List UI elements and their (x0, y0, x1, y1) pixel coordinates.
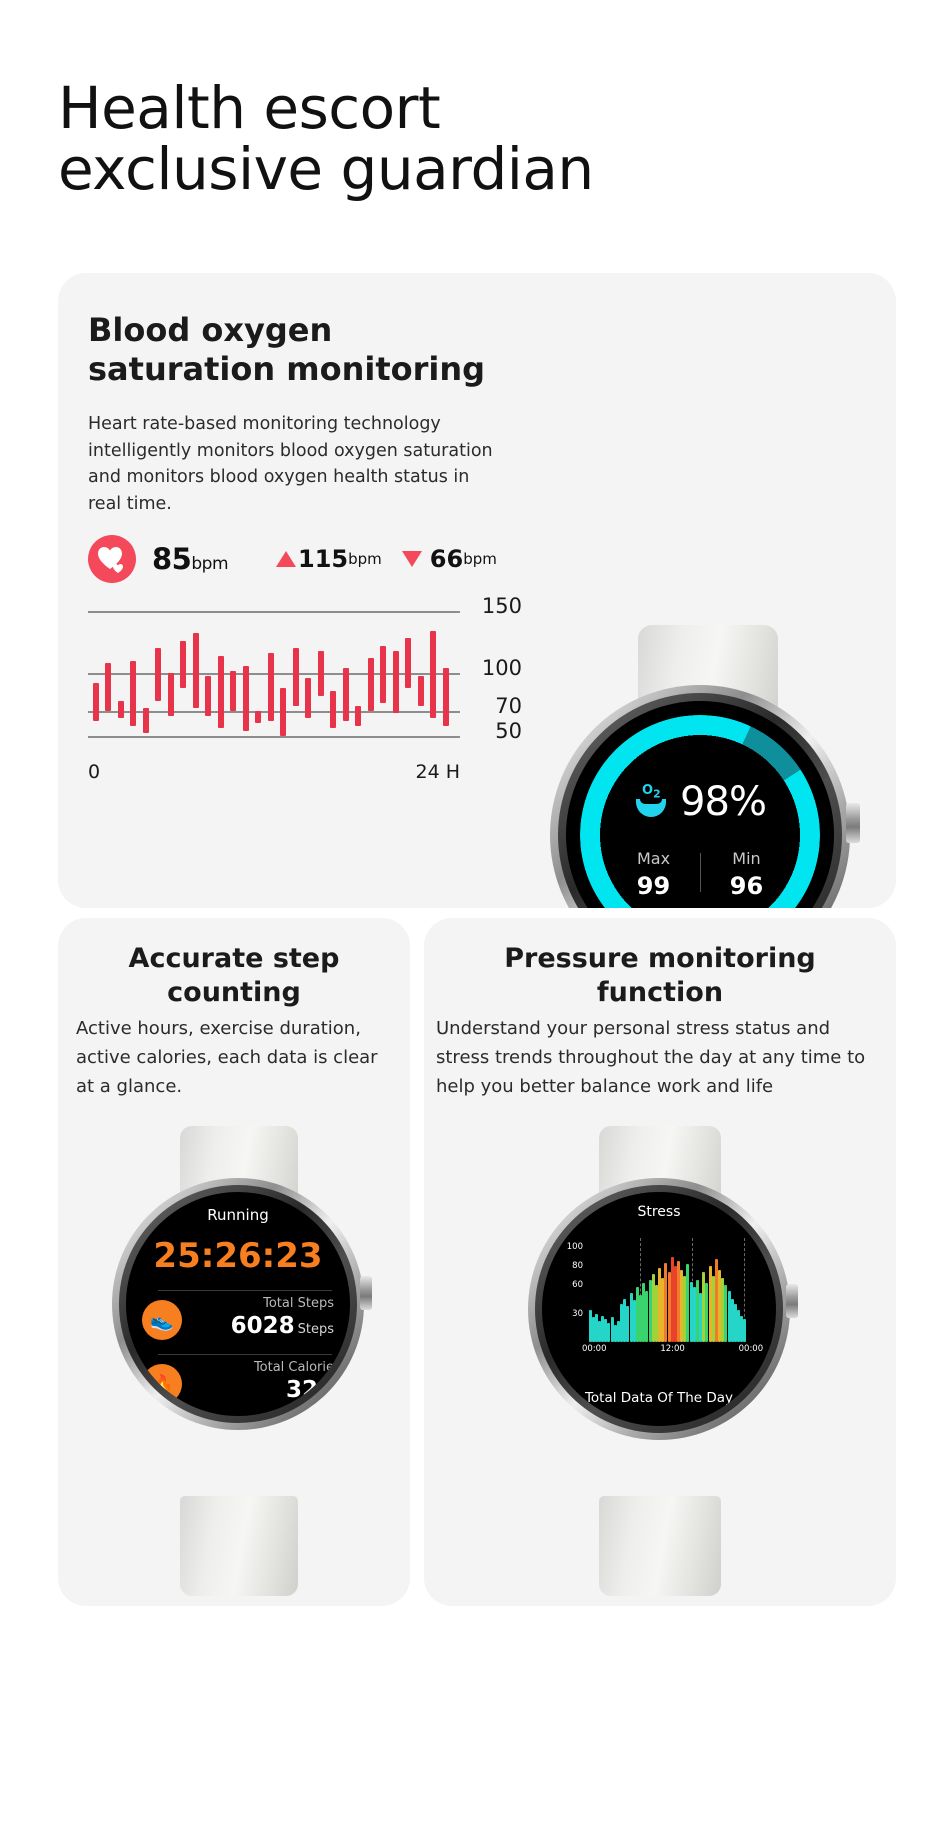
heart-rate-chart-xaxis: 0 24 H (88, 761, 460, 783)
heart-rate-chart: 1501007050 (88, 598, 460, 748)
pressure-title-line-1: Pressure monitoring (442, 942, 878, 976)
pressure-monitoring-description: Understand your personal stress status a… (436, 1014, 886, 1101)
heart-rate-bar (130, 661, 136, 726)
headline-line-2: exclusive guardian (58, 139, 594, 200)
stress-bar (724, 1285, 727, 1342)
heart-rate-bar (268, 653, 274, 721)
stress-bar (645, 1291, 648, 1342)
heart-rate-bar (168, 673, 174, 716)
page-title: Health escort exclusive guardian (58, 78, 594, 200)
heart-rate-bar (393, 651, 399, 714)
heart-rate-bars (90, 598, 458, 748)
stress-bar (626, 1306, 629, 1342)
heart-rate-bar (443, 668, 449, 726)
heart-rate-bar (380, 646, 386, 704)
watch-crown-button[interactable] (786, 1284, 798, 1318)
heart-rate-bar (218, 656, 224, 729)
watch-stress: Stress 100806030 00:0012:0000:00 Total D… (510, 1126, 810, 1596)
heart-rate-max-unit: bpm (348, 550, 382, 568)
oxygen-min-label: Min (701, 849, 793, 868)
watch-blood-oxygen: O2 98% Max 99 Min 96 (528, 625, 888, 908)
headline-line-1: Health escort (58, 78, 594, 139)
heart-rate-bar (255, 711, 261, 724)
stress-chart: 100806030 (588, 1238, 746, 1342)
heart-rate-current: 85bpm (152, 542, 228, 576)
heart-rate-bar (343, 668, 349, 721)
watch-step-counting: Running 25:26:23 👟 Total Steps 6028Steps… (94, 1126, 384, 1596)
heart-rate-bar (180, 641, 186, 689)
total-calorie-label: Total Calorie (254, 1360, 334, 1375)
oxygen-min: Min 96 (701, 849, 793, 900)
step-counting-description: Active hours, exercise duration, active … (76, 1014, 396, 1101)
stress-chart-title: Stress (542, 1204, 776, 1220)
blood-oxygen-title: Blood oxygen saturation monitoring (88, 311, 558, 389)
watch-band-bottom (180, 1496, 298, 1596)
heart-rate-max-value: 115 (298, 545, 348, 573)
heart-rate-bar (318, 651, 324, 696)
heart-rate-bar (280, 688, 286, 736)
total-steps-stat: Total Steps 6028Steps (231, 1296, 334, 1339)
divider (158, 1290, 332, 1291)
blood-oxygen-title-line-1: Blood oxygen (88, 311, 558, 350)
heart-rate-bar (355, 706, 361, 726)
stress-bar (705, 1283, 708, 1342)
heart-rate-min: 66bpm (398, 545, 497, 573)
running-elapsed-time: 25:26:23 (126, 1236, 350, 1276)
total-steps-unit: Steps (298, 1322, 334, 1337)
heart-rate-bar (105, 663, 111, 711)
heart-rate-bar (93, 683, 99, 721)
heart-rate-bar (205, 676, 211, 716)
pressure-monitoring-title: Pressure monitoring function (424, 942, 896, 1010)
heart-rate-bar (368, 658, 374, 711)
watch-crown-button[interactable] (360, 1276, 372, 1310)
heart-rate-bar (418, 676, 424, 706)
oxygen-max-value: 99 (608, 872, 700, 900)
watch-crown-button[interactable] (846, 803, 860, 843)
step-counting-title-line-1: Accurate step (76, 942, 392, 976)
oxygen-min-value: 96 (701, 872, 793, 900)
watch-screen[interactable]: Stress 100806030 00:0012:0000:00 Total D… (542, 1192, 776, 1426)
stress-x-tick-label: 12:00 (660, 1344, 685, 1354)
heart-rate-current-value: 85 (152, 542, 191, 576)
heart-icon (88, 535, 136, 583)
heart-rate-stats-row: 85bpm 115bpm 66bpm (88, 535, 497, 583)
total-calorie-value: 328 (286, 1377, 334, 1403)
total-calorie-stat: Total Calorie 328 (254, 1360, 334, 1403)
promo-page: Health escort exclusive guardian Blood o… (0, 0, 950, 1822)
card-step-counting: Accurate step counting Active hours, exe… (58, 918, 410, 1606)
stress-x-tick-label: 00:00 (739, 1344, 764, 1354)
stress-y-tick-label: 100 (567, 1242, 583, 1252)
running-mode-label: Running (126, 1206, 350, 1224)
y-tick-label: 100 (464, 656, 522, 680)
heart-rate-x-end: 24 H (415, 761, 460, 783)
step-counting-title-line-2: counting (76, 976, 392, 1010)
triangle-up-icon (276, 551, 296, 567)
oxygen-value: 98% (680, 779, 766, 825)
card-pressure-monitoring: Pressure monitoring function Understand … (424, 918, 896, 1606)
heart-rate-bar (193, 633, 199, 708)
heart-rate-bar (118, 701, 124, 719)
oxygen-max-label: Max (608, 849, 700, 868)
stress-y-tick-label: 80 (572, 1261, 583, 1271)
oxygen-readout: O2 98% (566, 779, 834, 825)
card-blood-oxygen: Blood oxygen saturation monitoring Heart… (58, 273, 896, 908)
blood-oxygen-title-line-2: saturation monitoring (88, 350, 558, 389)
heart-rate-min-unit: bpm (463, 550, 497, 568)
stress-bar (743, 1319, 746, 1342)
step-counting-title: Accurate step counting (58, 942, 410, 1010)
oxygen-min-max: Max 99 Min 96 (566, 849, 834, 900)
oxygen-max: Max 99 (608, 849, 700, 900)
total-steps-value: 6028 (231, 1313, 295, 1339)
blood-oxygen-description: Heart rate-based monitoring technology i… (88, 411, 508, 517)
heart-rate-max: 115bpm (276, 545, 382, 573)
heart-rate-bar (143, 708, 149, 733)
heart-rate-bar (405, 638, 411, 688)
y-tick-label: 150 (464, 594, 522, 618)
divider (158, 1354, 332, 1355)
stress-chart-footer: Total Data Of The Day (542, 1390, 776, 1406)
heart-rate-current-unit: bpm (191, 554, 228, 574)
heart-rate-bar (430, 631, 436, 719)
heart-rate-bar (330, 691, 336, 729)
watch-screen[interactable]: Running 25:26:23 👟 Total Steps 6028Steps… (126, 1192, 350, 1416)
o2-droplet-icon: O2 (634, 785, 668, 819)
pressure-title-line-2: function (442, 976, 878, 1010)
shoe-icon: 👟 (142, 1300, 182, 1340)
heart-rate-bar (305, 678, 311, 718)
stress-bar (664, 1263, 667, 1342)
heart-rate-bar (293, 648, 299, 706)
triangle-down-icon (402, 551, 422, 567)
stress-y-tick-label: 30 (572, 1309, 583, 1319)
flame-icon: 🔥 (142, 1364, 182, 1404)
heart-rate-x-start: 0 (88, 761, 100, 783)
watch-band-bottom (599, 1496, 721, 1596)
total-steps-label: Total Steps (231, 1296, 334, 1311)
heart-rate-min-value: 66 (430, 545, 463, 573)
heart-rate-bar (243, 666, 249, 731)
heart-rate-bar (230, 671, 236, 711)
stress-y-tick-label: 60 (572, 1280, 583, 1290)
heart-rate-bar (155, 648, 161, 701)
stress-x-tick-label: 00:00 (582, 1344, 607, 1354)
y-tick-label: 70 (464, 694, 522, 718)
y-tick-label: 50 (464, 719, 522, 743)
